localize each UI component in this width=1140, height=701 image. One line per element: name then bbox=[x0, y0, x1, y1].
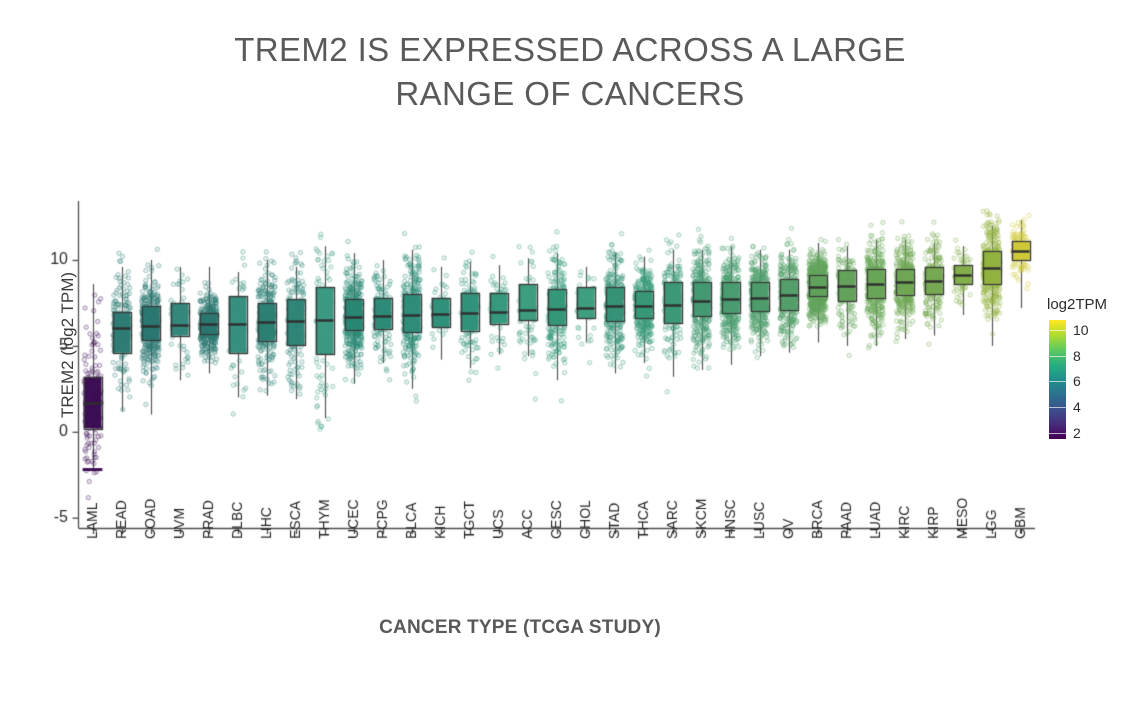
legend-tick-mark bbox=[1049, 433, 1066, 434]
chart-plot-area: TREM2 (log2 TPM) bbox=[0, 150, 1140, 580]
slide-canvas: TREM2 IS EXPRESSED ACROSS A LARGE RANGE … bbox=[0, 0, 1140, 701]
legend-title: log2TPM bbox=[1047, 296, 1107, 313]
legend-tick-label: 10 bbox=[1073, 322, 1089, 338]
legend-tick-mark bbox=[1049, 356, 1066, 357]
page-title: TREM2 IS EXPRESSED ACROSS A LARGE RANGE … bbox=[110, 28, 1030, 116]
legend-tick-label: 6 bbox=[1073, 373, 1081, 389]
y-axis-title: TREM2 (log2 TPM) bbox=[58, 230, 78, 460]
x-axis-title: CANCER TYPE (TCGA STUDY) bbox=[0, 617, 1040, 639]
legend-colorbar bbox=[1049, 320, 1066, 439]
legend-tick-mark bbox=[1049, 381, 1066, 382]
legend-tick-label: 8 bbox=[1073, 348, 1081, 364]
legend-tick-mark bbox=[1049, 407, 1066, 408]
boxplot-canvas bbox=[0, 150, 1140, 580]
legend-tick-mark bbox=[1049, 330, 1066, 331]
color-legend: log2TPM 108642 bbox=[1047, 296, 1139, 456]
legend-tick-label: 4 bbox=[1073, 399, 1081, 415]
legend-tick-label: 2 bbox=[1073, 425, 1081, 441]
